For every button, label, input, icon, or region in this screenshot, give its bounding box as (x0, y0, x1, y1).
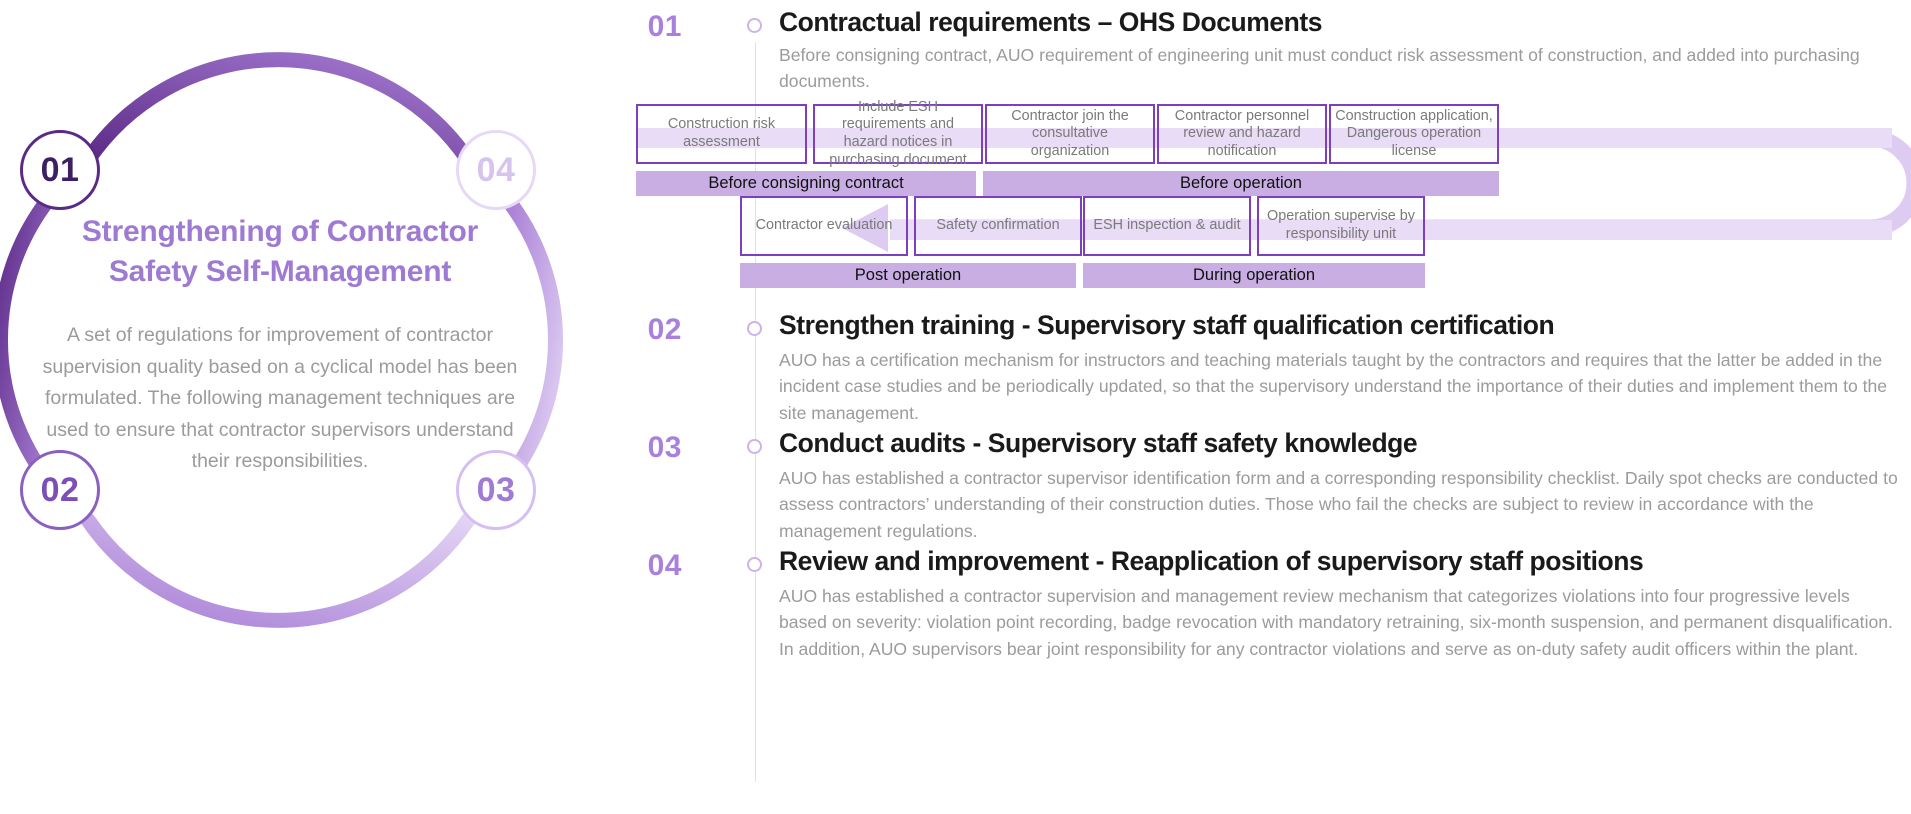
infographic-page: 01 02 03 04 Strengthening of Contractor … (0, 0, 1911, 814)
cycle-title: Strengthening of Contractor Safety Self-… (42, 212, 518, 291)
flow-band-before-consigning: Before consigning contract (636, 171, 976, 196)
section-03-number: 03 (620, 431, 682, 465)
flow-box-bottom-3[interactable]: ESH inspection & audit (1083, 196, 1251, 256)
sections-panel: 01 Contractual requirements – OHS Docume… (620, 0, 1911, 814)
flow-box-bottom-2[interactable]: Safety confirmation (914, 196, 1082, 256)
flow-box-top-3[interactable]: Contractor join the consultative organiz… (985, 104, 1155, 164)
flow-box-top-5[interactable]: Construction application, Dangerous oper… (1329, 104, 1499, 164)
cycle-description: A set of regulations for improvement of … (40, 320, 520, 478)
flow-box-top-1[interactable]: Construction risk assessment (636, 104, 807, 164)
section-01-title: Contractual requirements – OHS Documents (779, 7, 1322, 38)
section-04-bullet-icon (747, 557, 762, 572)
flow-box-bottom-1[interactable]: Contractor evaluation (740, 196, 908, 256)
section-01-description: Before consigning contract, AUO requirem… (779, 42, 1901, 95)
cycle-node-01-label: 01 (41, 151, 80, 190)
section-02-description: AUO has a certification mechanism for in… (779, 347, 1901, 426)
cycle-node-01[interactable]: 01 (20, 130, 100, 210)
section-03-bullet-icon (747, 439, 762, 454)
flow-box-top-2[interactable]: Include ESH requirements and hazard noti… (813, 104, 983, 164)
flow-box-top-4[interactable]: Contractor personnel review and hazard n… (1157, 104, 1327, 164)
cycle-diagram-panel: 01 02 03 04 Strengthening of Contractor … (0, 0, 620, 814)
cycle-node-04-label: 04 (477, 151, 516, 190)
section-01-number: 01 (620, 10, 682, 44)
section-04-number: 04 (620, 549, 682, 583)
cycle-node-04[interactable]: 04 (456, 130, 536, 210)
flow-band-during-operation: During operation (1083, 263, 1425, 288)
flow-band-post-operation: Post operation (740, 263, 1076, 288)
flow-box-bottom-4[interactable]: Operation supervise by responsibility un… (1257, 196, 1425, 256)
section-03-title: Conduct audits - Supervisory staff safet… (779, 428, 1417, 459)
ohs-process-flowchart: Construction risk assessment Include ESH… (620, 96, 1911, 296)
flow-band-before-operation: Before operation (983, 171, 1499, 196)
section-02-number: 02 (620, 313, 682, 347)
section-04-description: AUO has established a contractor supervi… (779, 583, 1901, 662)
section-02-bullet-icon (747, 321, 762, 336)
section-01-bullet-icon (747, 18, 762, 33)
section-02-title: Strengthen training - Supervisory staff … (779, 310, 1554, 341)
section-03-description: AUO has established a contractor supervi… (779, 465, 1901, 544)
section-04-title: Review and improvement - Reapplication o… (779, 546, 1643, 577)
